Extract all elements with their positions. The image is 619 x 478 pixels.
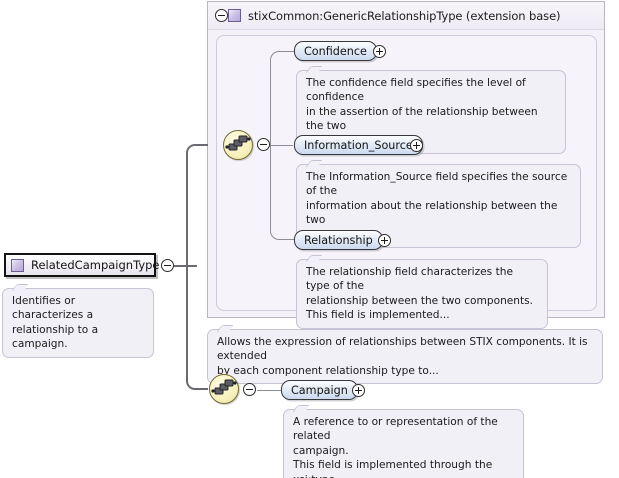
- connector-seq1-to-confidence: [270, 51, 294, 146]
- minus-icon: [215, 9, 228, 22]
- extension-base-title: stixCommon:GenericRelationshipType (exte…: [248, 9, 560, 23]
- sequence-compositor-extension-base[interactable]: [223, 130, 253, 160]
- element-node-relationship[interactable]: Relationship: [294, 230, 383, 250]
- sequence-extension-base-collapse-toggle[interactable]: [257, 138, 270, 151]
- extension-base-collapse-toggle[interactable]: [215, 9, 228, 22]
- element-label: Campaign: [291, 384, 348, 397]
- sequence-icon: [210, 375, 238, 403]
- root-type-label: RelatedCampaignType: [31, 258, 160, 272]
- confidence-expand-toggle[interactable]: [373, 45, 386, 58]
- element-label: Confidence: [304, 45, 367, 58]
- complex-type-icon: [228, 9, 241, 22]
- campaign-documentation: A reference to or representation of the …: [283, 409, 524, 478]
- root-collapse-toggle[interactable]: [161, 259, 174, 272]
- element-label: Information_Source: [304, 139, 413, 152]
- element-label: Relationship: [304, 234, 373, 247]
- extension-base-header: stixCommon:GenericRelationshipType (exte…: [208, 2, 604, 30]
- connector-seq1-to-relationship: [270, 145, 294, 240]
- element-node-confidence[interactable]: Confidence: [294, 41, 377, 61]
- sequence-compositor-own[interactable]: [209, 374, 239, 404]
- element-node-campaign[interactable]: Campaign: [281, 380, 358, 400]
- complex-type-icon: [11, 259, 24, 272]
- information-source-expand-toggle[interactable]: [410, 139, 423, 152]
- root-documentation: Identifies or characterizes a relationsh…: [2, 288, 154, 358]
- connector-root-to-sequence-up: [186, 144, 208, 266]
- extension-base-documentation: Allows the expression of relationships b…: [207, 329, 603, 384]
- schema-diagram-canvas: stixCommon:GenericRelationshipType (exte…: [0, 0, 619, 478]
- campaign-expand-toggle[interactable]: [352, 384, 365, 397]
- sequence-own-collapse-toggle[interactable]: [243, 383, 256, 396]
- connector-root-to-sequence-down: [186, 265, 208, 390]
- relationship-documentation: The relationship field characterizes the…: [296, 259, 548, 329]
- root-type-box[interactable]: RelatedCampaignType: [4, 253, 156, 277]
- element-node-information-source[interactable]: Information_Source: [294, 135, 423, 155]
- sequence-icon: [224, 131, 252, 159]
- relationship-expand-toggle[interactable]: [378, 234, 391, 247]
- connector-seq2-to-campaign: [257, 390, 282, 391]
